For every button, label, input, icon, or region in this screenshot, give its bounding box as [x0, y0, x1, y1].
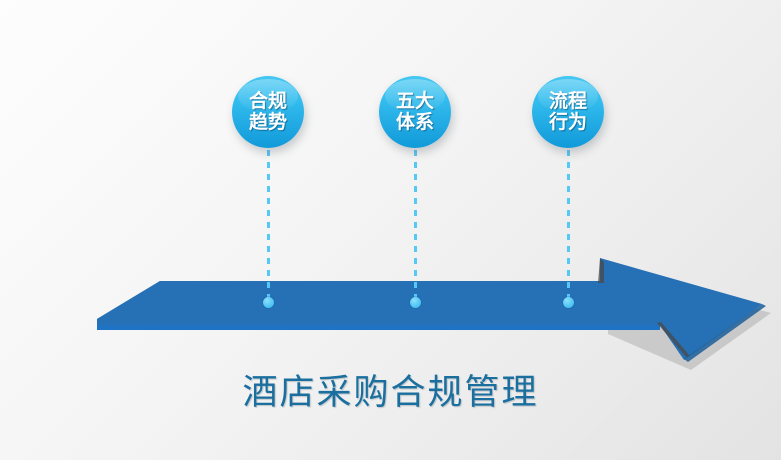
node-bubble-label-3-line1: 流程: [549, 90, 587, 112]
node-bubble-compliance-trend[interactable]: 合规 趋势: [232, 76, 304, 148]
node-bubble-label-2: 五大 体系: [396, 91, 434, 133]
node-bubble-label-3-line2: 行为: [549, 112, 587, 133]
arrow-shadow: [103, 268, 771, 370]
node-bubble-label-3: 流程 行为: [549, 91, 587, 133]
connector-line-1: [267, 150, 270, 300]
connector-dot-3: [563, 297, 574, 308]
arrow-head-top-bevel: [598, 258, 604, 283]
connector-dot-1: [263, 297, 274, 308]
node-bubble-label-2-line2: 体系: [396, 112, 434, 133]
node-bubble-label-1-line1: 合规: [249, 90, 287, 112]
arrow-tip-bevel: [684, 304, 766, 362]
node-bubble-label-1-line2: 趋势: [249, 112, 287, 133]
arrow-bottom-edge: [97, 324, 660, 330]
connector-line-3: [567, 150, 570, 300]
arrow-left-bevel: [97, 281, 160, 325]
arrow-head-bottom-bevel: [657, 322, 690, 357]
node-bubble-five-systems[interactable]: 五大 体系: [379, 76, 451, 148]
connector-line-2: [414, 150, 417, 300]
slide-canvas: 合规 趋势 五大 体系 流程 行为 酒店采购合规管理: [0, 0, 781, 460]
node-bubble-label-2-line1: 五大: [396, 90, 434, 112]
connector-dot-2: [410, 297, 421, 308]
arrow-body: [97, 258, 762, 360]
node-bubble-process-behavior[interactable]: 流程 行为: [532, 76, 604, 148]
slide-title: 酒店采购合规管理: [0, 371, 781, 415]
node-bubble-label-1: 合规 趋势: [249, 91, 287, 133]
